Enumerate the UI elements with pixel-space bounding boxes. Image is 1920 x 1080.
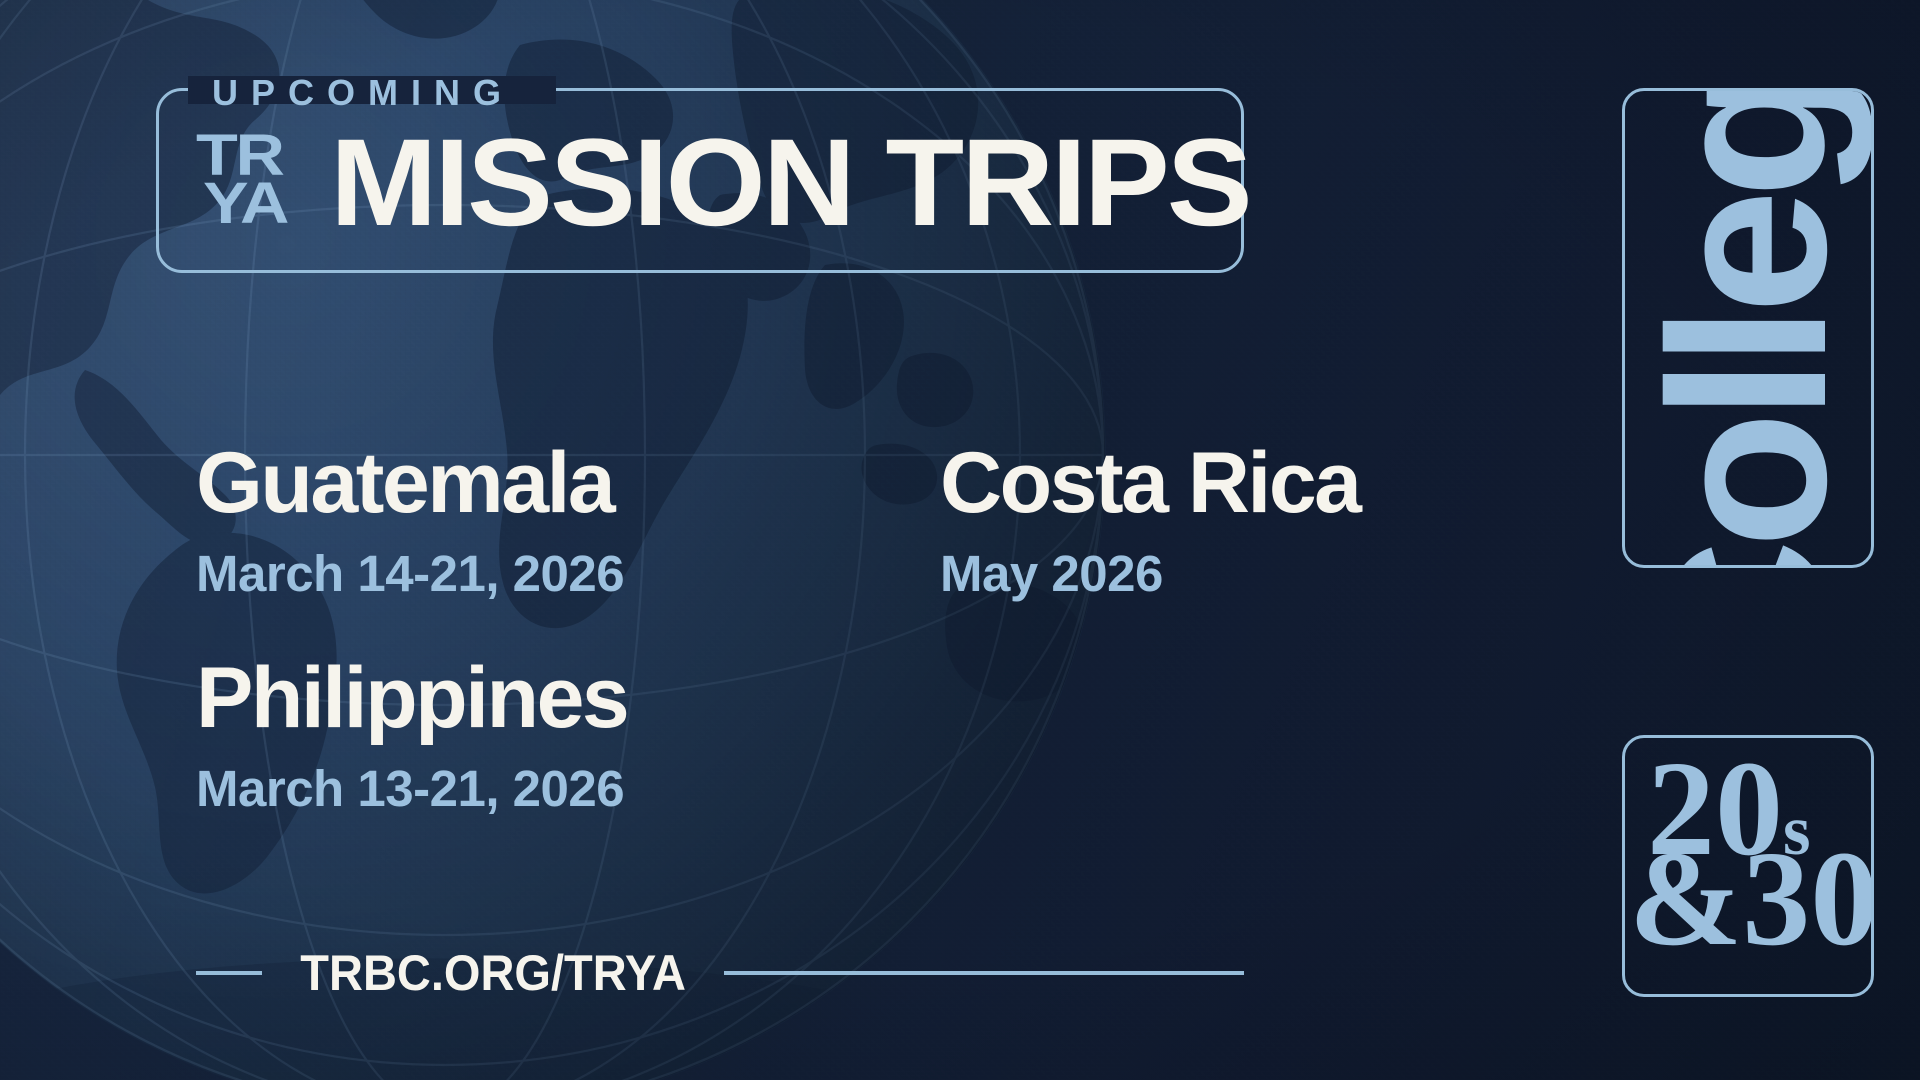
badge-ampersand: & <box>1629 824 1742 974</box>
eyebrow-upcoming: UPCOMING <box>196 72 530 114</box>
mission-trips-poster: UPCOMING TR YA MISSION TRIPS Guatemala M… <box>0 0 1920 1080</box>
trip-entry: Guatemala March 14-21, 2026 <box>196 440 624 599</box>
divider-right <box>724 971 1244 975</box>
page-title: MISSION TRIPS <box>330 121 1250 245</box>
badge-college-label: College <box>1636 88 1860 568</box>
trip-destination: Philippines <box>196 655 627 741</box>
badge-30s-number: 30 <box>1742 824 1874 974</box>
trip-entry: Costa Rica May 2026 <box>940 440 1360 599</box>
divider-left <box>196 971 262 975</box>
badge-college: College <box>1622 88 1874 568</box>
trya-logo: TR YA <box>196 133 308 235</box>
trya-logo-line2: YA <box>203 181 327 226</box>
trip-entry: Philippines March 13-21, 2026 <box>196 655 627 814</box>
trip-dates: March 13-21, 2026 <box>196 763 627 814</box>
website-url[interactable]: TRBC.ORG/TRYA <box>300 944 686 1002</box>
trip-destination: Costa Rica <box>940 440 1360 526</box>
badge-30s-row: &30s <box>1629 842 1874 956</box>
trip-dates: March 14-21, 2026 <box>196 548 624 599</box>
trip-dates: May 2026 <box>940 548 1360 599</box>
badge-20s-30s: 20s &30s <box>1622 735 1874 997</box>
footer-url-bar: TRBC.ORG/TRYA <box>196 950 1244 996</box>
trip-destination: Guatemala <box>196 440 624 526</box>
